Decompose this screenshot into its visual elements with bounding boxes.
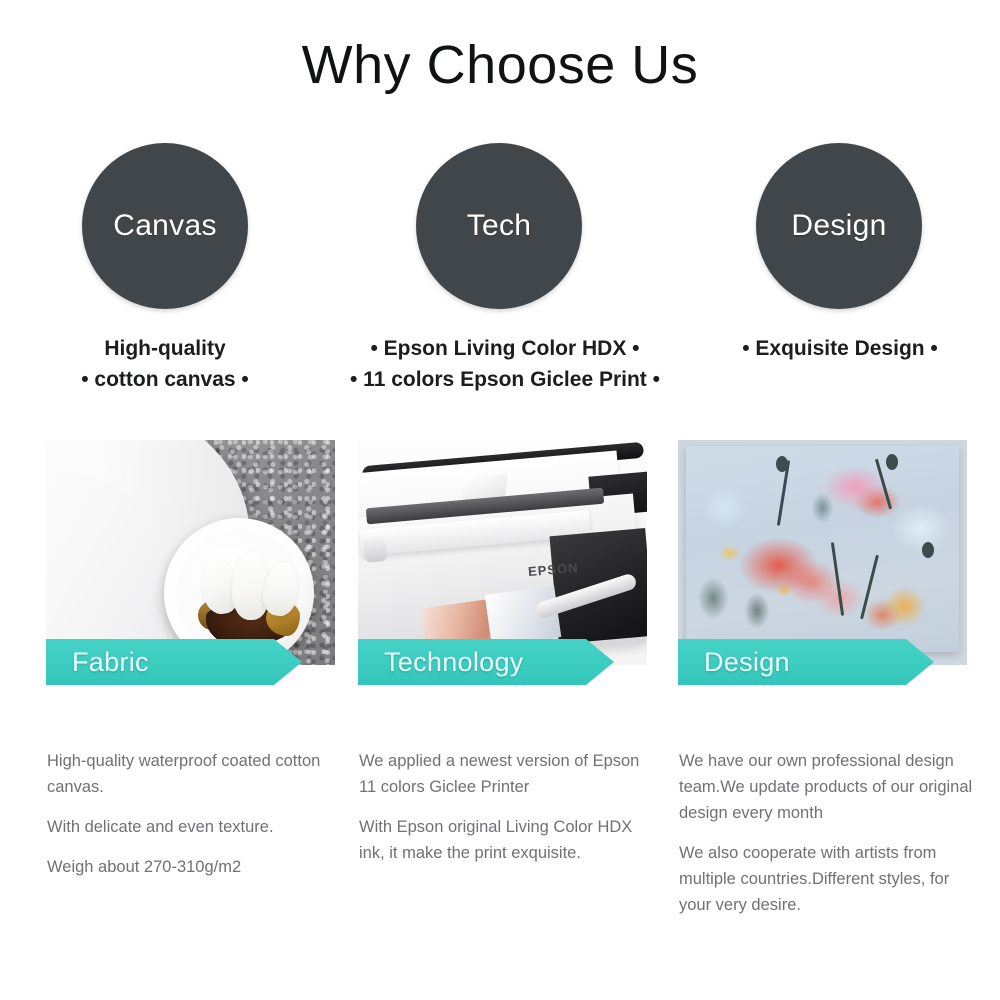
floral-painting	[686, 446, 959, 652]
description-paragraph: We applied a newest version of Epson 11 …	[359, 748, 659, 800]
caption-line-1: High-quality	[104, 337, 225, 360]
caption-line-1: • Exquisite Design •	[742, 337, 938, 360]
feature-circle-label: Canvas	[113, 209, 217, 243]
flower-stem	[831, 542, 844, 616]
banner-label: Technology	[358, 647, 524, 678]
flower-bud	[776, 456, 788, 472]
dish-inner	[176, 530, 302, 656]
feature-caption-canvas: High-quality • cotton canvas •	[35, 333, 295, 395]
description-technology: We applied a newest version of Epson 11 …	[359, 748, 659, 880]
description-fabric: High-quality waterproof coated cotton ca…	[47, 748, 337, 894]
photo-card-design: Design	[678, 440, 967, 685]
feature-circles-row: Canvas Tech Design	[0, 143, 1000, 313]
flower-bud	[886, 454, 898, 470]
feature-captions-row: High-quality • cotton canvas • • Epson L…	[0, 333, 1000, 408]
printer-foot	[363, 537, 387, 563]
banner-fabric: Fabric	[46, 639, 302, 685]
description-paragraph: With Epson original Living Color HDX ink…	[359, 814, 659, 866]
feature-circle-tech: Tech	[416, 143, 582, 309]
photo-card-technology: EPSON Technology	[358, 440, 647, 685]
feature-caption-tech: • Epson Living Color HDX • • 11 colors E…	[320, 333, 690, 395]
banner-label: Fabric	[46, 647, 149, 678]
page-title: Why Choose Us	[0, 34, 1000, 96]
feature-circle-label: Design	[791, 209, 886, 243]
description-design: We have our own professional design team…	[679, 748, 979, 932]
design-photo	[678, 440, 967, 665]
feature-circle-label: Tech	[467, 209, 532, 243]
caption-line-1: • Epson Living Color HDX •	[370, 337, 639, 360]
why-choose-us-infographic: Why Choose Us Canvas Tech Design High-qu…	[0, 0, 1000, 1000]
description-paragraph: High-quality waterproof coated cotton ca…	[47, 748, 337, 800]
banner-technology: Technology	[358, 639, 614, 685]
feature-caption-design: • Exquisite Design •	[690, 333, 990, 364]
description-paragraph: We have our own professional design team…	[679, 748, 979, 826]
feature-circle-canvas: Canvas	[82, 143, 248, 309]
description-columns: High-quality waterproof coated cotton ca…	[0, 748, 1000, 988]
feature-circle-design: Design	[756, 143, 922, 309]
flower-stem	[860, 555, 879, 620]
photo-cards-row: Fabric EPSON Technology	[0, 440, 1000, 730]
description-paragraph: Weigh about 270-310g/m2	[47, 854, 337, 880]
banner-label: Design	[678, 647, 790, 678]
fabric-photo	[46, 440, 335, 665]
caption-line-2: • 11 colors Epson Giclee Print •	[320, 364, 690, 395]
flower-bud	[922, 542, 934, 558]
photo-card-fabric: Fabric	[46, 440, 335, 685]
banner-design: Design	[678, 639, 934, 685]
description-paragraph: With delicate and even texture.	[47, 814, 337, 840]
description-paragraph: We also cooperate with artists from mult…	[679, 840, 979, 918]
caption-line-2: • cotton canvas •	[35, 364, 295, 395]
technology-photo: EPSON	[358, 440, 647, 665]
